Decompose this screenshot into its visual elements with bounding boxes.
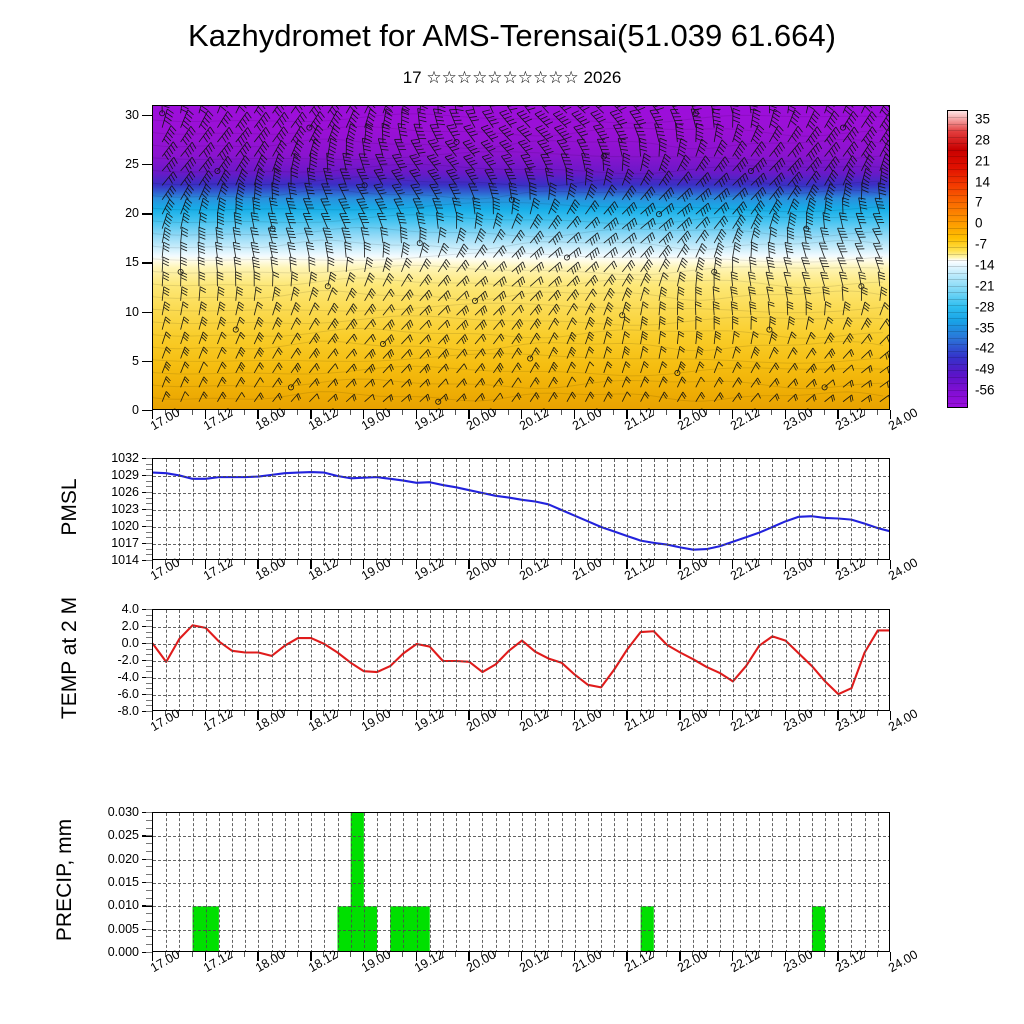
x-minor-tick <box>719 952 720 957</box>
y-tick-label: -8.0 <box>117 704 139 718</box>
y-minor-tick <box>146 609 152 610</box>
meteogram-page: Kazhydromet for AMS-Terensai(51.039 61.6… <box>0 0 1024 1024</box>
x-minor-tick <box>719 711 720 716</box>
y-tick-label: -4.0 <box>117 670 139 684</box>
y-tick-label: 1029 <box>111 468 139 482</box>
y-minor-tick <box>146 620 152 621</box>
y-minor-tick <box>146 859 152 860</box>
y-minor-tick <box>146 913 152 914</box>
y-minor-tick <box>146 898 152 899</box>
x-minor-tick <box>666 410 667 415</box>
colorbar-band-line <box>948 325 967 326</box>
y-tick-label: 15 <box>125 255 139 269</box>
grid-line-horizontal <box>153 860 890 861</box>
y-tick-label: 0.005 <box>108 922 139 936</box>
y-minor-tick <box>146 882 152 883</box>
colorbar-band-line <box>948 286 967 287</box>
colorbar-band-line <box>948 234 967 235</box>
colorbar-tick-label: -35 <box>975 320 995 335</box>
y-major-tick <box>142 410 152 411</box>
x-minor-tick <box>402 952 403 957</box>
y-minor-tick <box>146 615 152 616</box>
colorbar-tick-label: -7 <box>975 237 987 252</box>
y-minor-tick <box>146 475 152 476</box>
y-minor-tick <box>146 543 152 544</box>
x-minor-tick <box>877 410 878 415</box>
colorbar-band-line <box>948 318 967 319</box>
x-minor-tick <box>297 560 298 565</box>
x-minor-tick <box>244 711 245 716</box>
x-minor-tick <box>508 711 509 716</box>
colorbar-band-line <box>948 292 967 293</box>
colorbar-band-line <box>948 208 967 209</box>
y-minor-tick <box>146 481 152 482</box>
colorbar-band-line <box>948 266 967 267</box>
x-minor-tick <box>771 410 772 415</box>
colorbar-gradient <box>948 111 967 407</box>
grid-line-horizontal <box>153 510 890 511</box>
colorbar-band-line <box>948 195 967 196</box>
grid-line-horizontal <box>153 476 890 477</box>
y-minor-tick <box>146 526 152 527</box>
y-minor-tick <box>146 835 152 836</box>
colorbar-band-line <box>948 124 967 125</box>
x-minor-tick <box>297 410 298 415</box>
grid-line-horizontal <box>153 661 890 662</box>
x-minor-tick <box>455 711 456 716</box>
y-minor-tick <box>146 654 152 655</box>
grid-line-horizontal <box>153 695 890 696</box>
y-minor-tick <box>146 866 152 867</box>
x-minor-tick <box>350 952 351 957</box>
y-minor-tick <box>146 520 152 521</box>
y-major-tick <box>142 262 152 263</box>
colorbar-tick-label: 14 <box>975 174 990 189</box>
x-minor-tick <box>561 711 562 716</box>
colorbar-band-line <box>948 312 967 313</box>
x-minor-tick <box>244 560 245 565</box>
colorbar-band-line <box>948 396 967 397</box>
y-minor-tick <box>146 677 152 678</box>
x-minor-tick <box>350 711 351 716</box>
x-minor-tick <box>561 560 562 565</box>
x-minor-tick <box>402 410 403 415</box>
x-minor-tick <box>297 952 298 957</box>
y-tick-label: -6.0 <box>117 687 139 701</box>
y-minor-tick <box>146 469 152 470</box>
x-minor-tick <box>824 560 825 565</box>
x-minor-tick <box>192 410 193 415</box>
subtitle-year: 2026 <box>583 68 621 87</box>
x-minor-tick <box>561 410 562 415</box>
x-minor-tick <box>508 410 509 415</box>
colorbar-band-line <box>948 169 967 170</box>
page-subtitle: 17 ☆☆☆☆☆☆☆☆☆☆ 2026 <box>0 68 1024 88</box>
colorbar-tick-label: 35 <box>975 111 990 126</box>
colorbar-band-line <box>948 202 967 203</box>
y-minor-tick <box>146 683 152 684</box>
x-minor-tick <box>561 952 562 957</box>
x-minor-tick <box>613 410 614 415</box>
y-minor-tick <box>146 905 152 906</box>
y-tick-label: 1023 <box>111 502 139 516</box>
colorbar-tick-label: 7 <box>975 195 983 210</box>
y-tick-label: 20 <box>125 206 139 220</box>
y-tick-label: 1020 <box>111 519 139 533</box>
y-tick-label: 1026 <box>111 485 139 499</box>
colorbar-band-line <box>948 299 967 300</box>
x-minor-tick <box>719 410 720 415</box>
x-minor-tick <box>824 952 825 957</box>
colorbar-band-line <box>948 189 967 190</box>
x-minor-tick <box>666 952 667 957</box>
y-major-tick <box>142 115 152 116</box>
y-minor-tick <box>146 671 152 672</box>
y-minor-tick <box>146 637 152 638</box>
colorbar-band-line <box>948 403 967 404</box>
y-minor-tick <box>146 936 152 937</box>
y-tick-label: 0.010 <box>108 898 139 912</box>
x-minor-tick <box>508 952 509 957</box>
x-minor-tick <box>824 410 825 415</box>
colorbar-band-line <box>948 357 967 358</box>
colorbar-band-line <box>948 331 967 332</box>
y-minor-tick <box>146 632 152 633</box>
y-tick-label: 10 <box>125 305 139 319</box>
colorbar-band-line <box>948 364 967 365</box>
y-minor-tick <box>146 851 152 852</box>
y-tick-label: 0.025 <box>108 828 139 842</box>
x-minor-tick <box>244 952 245 957</box>
y-tick-label: 4.0 <box>122 602 139 616</box>
y-minor-tick <box>146 694 152 695</box>
colorbar-tick-label: -21 <box>975 278 995 293</box>
y-tick-label: 1032 <box>111 451 139 465</box>
y-tick-label: 0.015 <box>108 875 139 889</box>
x-minor-tick <box>244 410 245 415</box>
upper-air-panel <box>152 105 890 410</box>
x-minor-tick <box>877 711 878 716</box>
grid-line-horizontal <box>153 493 890 494</box>
y-minor-tick <box>146 503 152 504</box>
subtitle-month-glyphs: ☆☆☆☆☆☆☆☆☆☆ <box>426 68 578 87</box>
precip-panel <box>152 812 890 952</box>
y-minor-tick <box>146 554 152 555</box>
y-tick-label: 0.000 <box>108 945 139 959</box>
colorbar-tick-label: -49 <box>975 362 995 377</box>
y-tick-label: 2.0 <box>122 619 139 633</box>
colorbar-band-line <box>948 344 967 345</box>
x-minor-tick <box>771 952 772 957</box>
y-minor-tick <box>146 492 152 493</box>
colorbar-band-line <box>948 221 967 222</box>
y-minor-tick <box>146 921 152 922</box>
grid-line-horizontal <box>153 627 890 628</box>
x-minor-tick <box>455 560 456 565</box>
y-minor-tick <box>146 890 152 891</box>
colorbar-band-line <box>948 254 967 255</box>
colorbar-band-line <box>948 279 967 280</box>
y-minor-tick <box>146 812 152 813</box>
colorbar-band-line <box>948 130 967 131</box>
y-tick-label: 0 <box>132 403 139 417</box>
grid-line-horizontal <box>153 544 890 545</box>
y-tick-label: 0.0 <box>122 636 139 650</box>
y-tick-label: 5 <box>132 354 139 368</box>
x-minor-tick <box>613 952 614 957</box>
colorbar-band-line <box>948 137 967 138</box>
grid-line-horizontal <box>153 930 890 931</box>
colorbar-band-line <box>948 247 967 248</box>
x-minor-tick <box>666 560 667 565</box>
colorbar-band-line <box>948 241 967 242</box>
y-minor-tick <box>146 509 152 510</box>
grid-line-horizontal <box>153 906 890 907</box>
x-minor-tick <box>402 560 403 565</box>
colorbar-band-line <box>948 351 967 352</box>
y-tick-label: 25 <box>125 157 139 171</box>
x-minor-tick <box>350 410 351 415</box>
precip-axis-title: PRECIP, mm <box>53 780 77 980</box>
grid-line-horizontal <box>153 678 890 679</box>
x-minor-tick <box>455 410 456 415</box>
subtitle-day: 17 <box>403 68 422 87</box>
grid-line-horizontal <box>153 644 890 645</box>
x-minor-tick <box>297 711 298 716</box>
y-minor-tick <box>146 666 152 667</box>
x-minor-tick <box>719 560 720 565</box>
y-minor-tick <box>146 464 152 465</box>
y-minor-tick <box>146 944 152 945</box>
y-minor-tick <box>146 498 152 499</box>
colorbar-band-line <box>948 305 967 306</box>
colorbar-tick-label: 28 <box>975 132 990 147</box>
x-minor-tick <box>824 711 825 716</box>
y-tick-label: 30 <box>125 108 139 122</box>
y-minor-tick <box>146 660 152 661</box>
y-major-tick <box>142 361 152 362</box>
x-minor-tick <box>192 711 193 716</box>
colorbar-band-line <box>948 273 967 274</box>
y-minor-tick <box>146 705 152 706</box>
grid-line-horizontal <box>153 836 890 837</box>
x-minor-tick <box>508 560 509 565</box>
colorbar-band-line <box>948 163 967 164</box>
temperature-wind-field <box>153 106 889 409</box>
y-major-tick <box>142 312 152 313</box>
y-tick-label: 0.030 <box>108 805 139 819</box>
y-tick-label: -2.0 <box>117 653 139 667</box>
x-minor-tick <box>877 952 878 957</box>
y-minor-tick <box>146 843 152 844</box>
x-minor-tick <box>666 711 667 716</box>
colorbar-tick-label: 21 <box>975 153 990 168</box>
grid-line-horizontal <box>153 527 890 528</box>
temp-panel <box>152 609 890 711</box>
colorbar-band-line <box>948 370 967 371</box>
temp-2m-axis-title: TEMP at 2 M <box>58 558 82 758</box>
colorbar-band-line <box>948 150 967 151</box>
colorbar-band-line <box>948 176 967 177</box>
colorbar-tick-label: -56 <box>975 383 995 398</box>
y-major-tick <box>142 213 152 214</box>
colorbar-tick-label: -42 <box>975 341 995 356</box>
colorbar-tick-label: 0 <box>975 216 983 231</box>
colorbar-band-line <box>948 215 967 216</box>
y-minor-tick <box>146 549 152 550</box>
colorbar-band-line <box>948 377 967 378</box>
page-title: Kazhydromet for AMS-Terensai(51.039 61.6… <box>0 18 1024 54</box>
pmsl-panel <box>152 458 890 560</box>
x-minor-tick <box>771 560 772 565</box>
y-minor-tick <box>146 486 152 487</box>
x-minor-tick <box>877 560 878 565</box>
x-minor-tick <box>455 952 456 957</box>
y-minor-tick <box>146 626 152 627</box>
colorbar-band-line <box>948 117 967 118</box>
colorbar-tick-label: -14 <box>975 257 995 272</box>
x-minor-tick <box>402 711 403 716</box>
colorbar-band-line <box>948 143 967 144</box>
y-minor-tick <box>146 532 152 533</box>
y-minor-tick <box>146 649 152 650</box>
colorbar-band-line <box>948 338 967 339</box>
colorbar-band-line <box>948 156 967 157</box>
x-minor-tick <box>613 711 614 716</box>
colorbar-band-line <box>948 182 967 183</box>
x-minor-tick <box>192 560 193 565</box>
colorbar-band-line <box>948 228 967 229</box>
y-minor-tick <box>146 458 152 459</box>
y-minor-tick <box>146 688 152 689</box>
y-tick-label: 1014 <box>111 553 139 567</box>
y-minor-tick <box>146 828 152 829</box>
y-minor-tick <box>146 700 152 701</box>
x-minor-tick <box>771 711 772 716</box>
colorbar-band-line <box>948 260 967 261</box>
y-major-tick <box>142 164 152 165</box>
temperature-colorbar <box>947 110 968 408</box>
y-tick-label: 1017 <box>111 536 139 550</box>
x-minor-tick <box>613 560 614 565</box>
x-minor-tick <box>350 560 351 565</box>
y-minor-tick <box>146 929 152 930</box>
colorbar-band-line <box>948 383 967 384</box>
y-minor-tick <box>146 820 152 821</box>
y-minor-tick <box>146 643 152 644</box>
y-minor-tick <box>146 537 152 538</box>
grid-line-horizontal <box>153 883 890 884</box>
x-minor-tick <box>192 952 193 957</box>
y-tick-label: 0.020 <box>108 852 139 866</box>
y-minor-tick <box>146 515 152 516</box>
y-minor-tick <box>146 874 152 875</box>
colorbar-tick-label: -28 <box>975 299 995 314</box>
colorbar-band-line <box>948 390 967 391</box>
